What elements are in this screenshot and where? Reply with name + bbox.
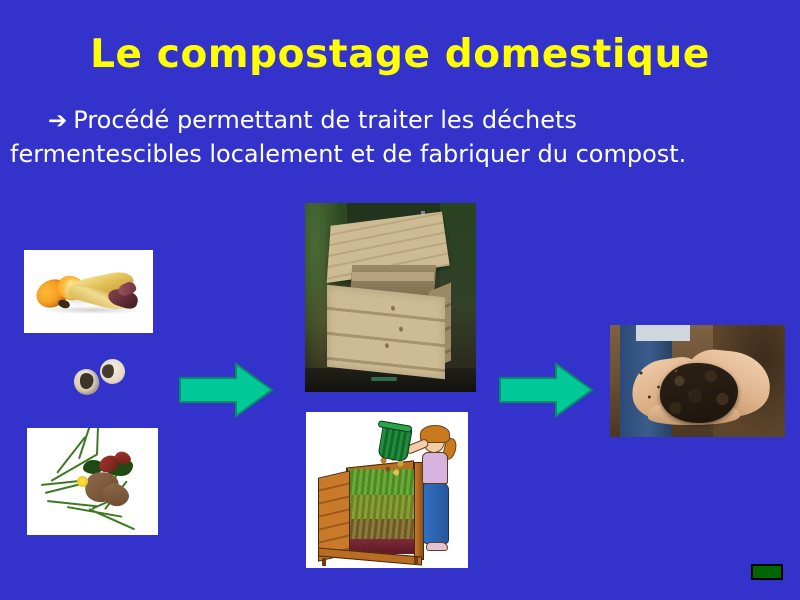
arrow-right-1-icon (178, 362, 274, 418)
eggshell-half-left (71, 366, 102, 397)
person-torso (422, 452, 448, 484)
hose (371, 377, 397, 381)
next-slide-button[interactable] (751, 564, 783, 580)
composting-illustration (306, 412, 468, 568)
person-legs (423, 482, 449, 544)
presentation-slide: Le compostage domestique ➔Procédé permet… (0, 0, 800, 600)
yellow-flower (77, 476, 88, 487)
compost-specks (634, 365, 704, 405)
grass-clippings-photo (27, 428, 158, 535)
grass-blade (89, 508, 135, 530)
bin-front-panel (327, 285, 445, 379)
page-title: Le compostage domestique (0, 33, 800, 77)
wood-knot (391, 306, 395, 311)
compost-layer-wilting (347, 495, 421, 519)
bin-foot-left (322, 558, 326, 566)
body-line-1: Procédé permettant de traiter les déchet… (73, 106, 577, 134)
person-shirt (636, 325, 690, 341)
bin-interior-plank (352, 272, 434, 281)
slide-body-text: ➔Procédé permettant de traiter les déche… (48, 104, 778, 171)
bullet-arrow-icon: ➔ (48, 108, 73, 134)
person-shoe (426, 542, 448, 551)
wood-knot (399, 326, 403, 331)
hands-holding-compost-photo (610, 325, 785, 437)
wood-knot (385, 343, 389, 348)
wooden-compost-bin-photo (305, 203, 476, 392)
arrow-right-2-icon (498, 362, 594, 418)
grass-blade (96, 428, 100, 455)
bin-foot-right (414, 557, 418, 565)
eggshell-half-right (98, 357, 128, 387)
fruit-peelings-photo (24, 250, 153, 333)
eggshell-photo (74, 357, 126, 397)
body-line-2: fermentescibles localement et de fabriqu… (10, 138, 778, 171)
compost-layer-decomposing (347, 519, 421, 539)
